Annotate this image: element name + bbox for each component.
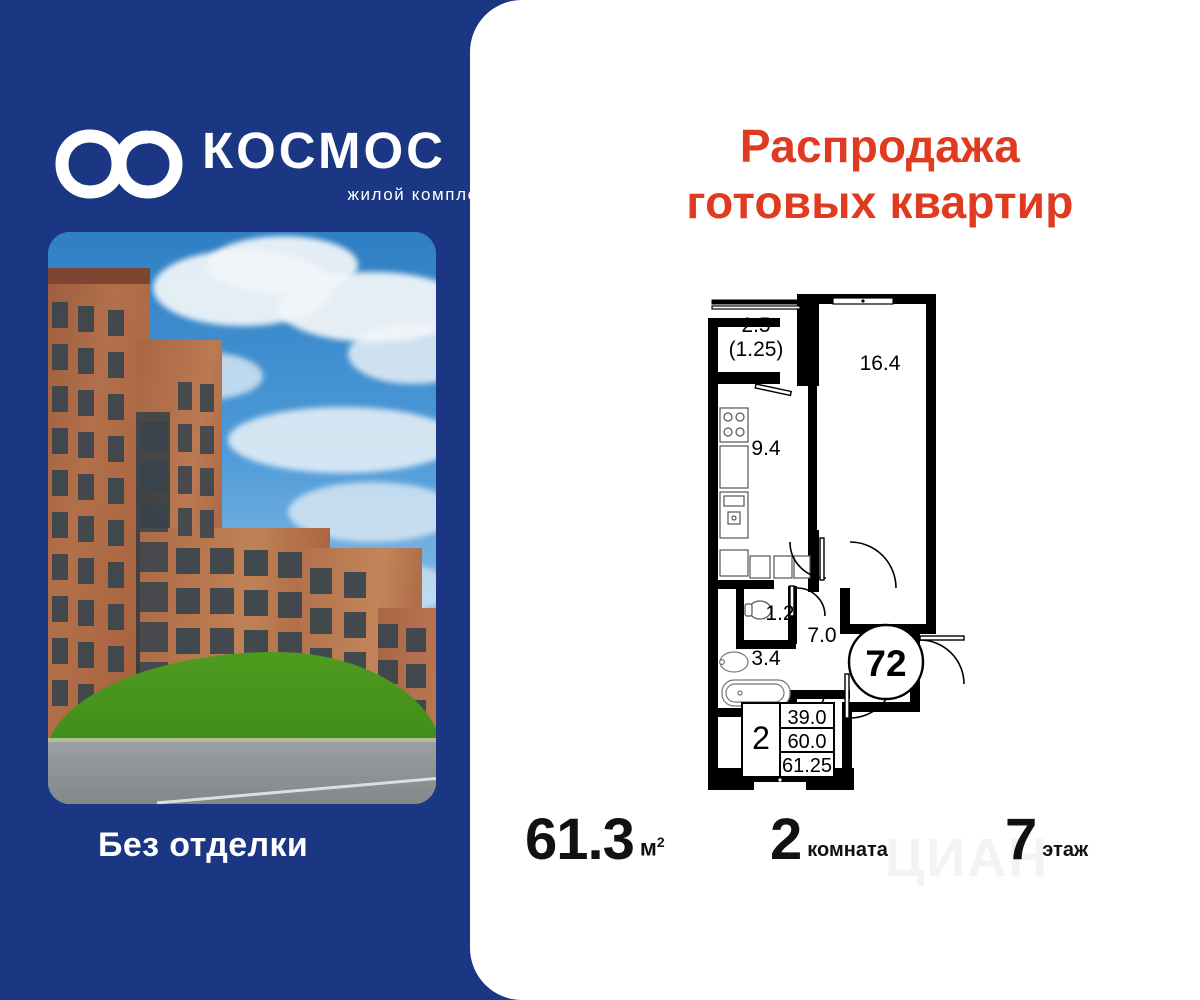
- stat-area-unit: м2: [640, 834, 665, 862]
- stat-floor-value: 7: [1005, 812, 1036, 867]
- summary-stats: 61.3 м2 2 комната 7 этаж: [505, 812, 1185, 890]
- svg-text:39.0: 39.0: [788, 707, 827, 729]
- headline-line-2: готовых квартир: [600, 174, 1160, 230]
- stat-area-value: 61.3: [525, 812, 634, 867]
- stat-floor-unit: этаж: [1042, 839, 1088, 862]
- svg-text:2.5: 2.5: [741, 314, 770, 337]
- svg-text:9.4: 9.4: [751, 437, 781, 460]
- svg-text:1.2: 1.2: [765, 602, 794, 625]
- building-photo: [48, 232, 436, 804]
- brand-text: КОСМОС жилой комплекс: [202, 125, 502, 205]
- svg-text:2: 2: [752, 720, 770, 756]
- infinity-icon: [52, 128, 187, 200]
- svg-text:3.4: 3.4: [751, 647, 781, 670]
- brand-subtitle: жилой комплекс: [202, 185, 502, 205]
- stat-area: 61.3 м2: [525, 812, 665, 867]
- headline-line-1: Распродажа: [600, 118, 1160, 174]
- balcony-glazing: [712, 300, 800, 309]
- apartment-number-badge: 72: [849, 625, 923, 699]
- stat-rooms-value: 2: [770, 812, 801, 867]
- kitchen-fixtures: [720, 408, 810, 578]
- listing-card: КОСМОС жилой комплекс: [0, 0, 1200, 1000]
- svg-text:60.0: 60.0: [788, 731, 827, 753]
- brand-block: КОСМОС жилой комплекс: [52, 120, 452, 215]
- svg-text:7.0: 7.0: [807, 624, 836, 647]
- stat-rooms: 2 комната: [770, 812, 888, 867]
- page-title: Распродажа готовых квартир: [600, 118, 1160, 230]
- brand-name: КОСМОС: [202, 125, 502, 176]
- svg-text:(1.25): (1.25): [729, 338, 784, 361]
- svg-text:16.4: 16.4: [860, 352, 901, 375]
- svg-text:61.25: 61.25: [782, 755, 832, 777]
- bedroom-window: [833, 294, 893, 304]
- finish-label: Без отделки: [98, 826, 428, 865]
- floor-plan: 2.5 (1.25) 16.4 9.4 1.2 7.0 3.4 22.6 72: [690, 250, 980, 795]
- stat-floor: 7 этаж: [1005, 812, 1088, 867]
- area-stamp: 2 39.0 60.0 61.25: [742, 703, 834, 777]
- stat-rooms-unit: комната: [807, 839, 888, 862]
- svg-text:72: 72: [865, 643, 906, 684]
